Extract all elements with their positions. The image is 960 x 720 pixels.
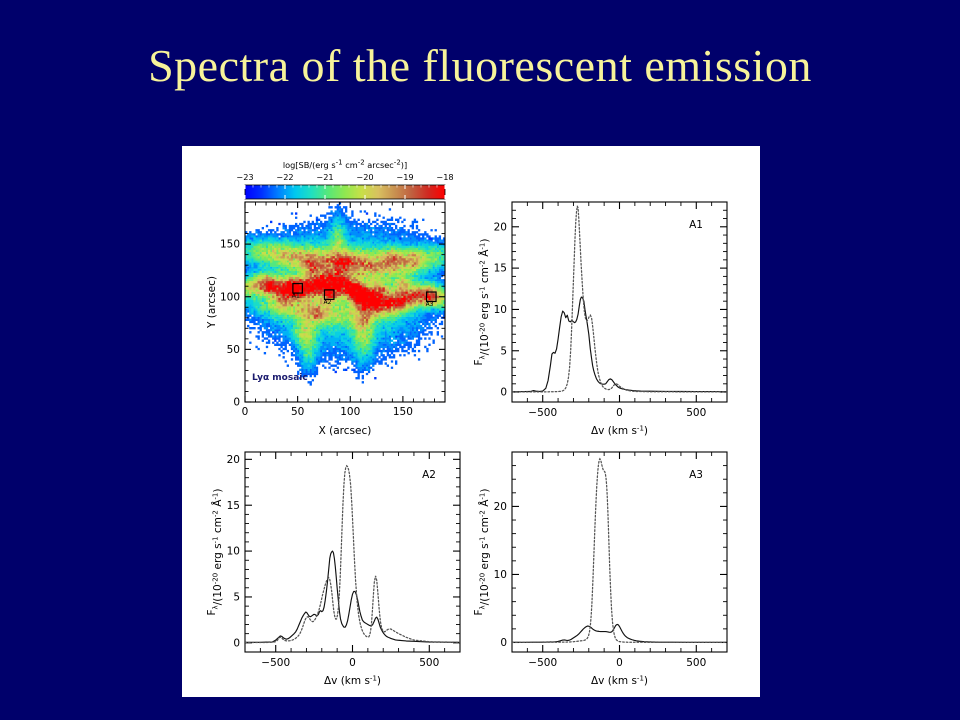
ytick-label: 20 [494,501,507,513]
colorbar-tick-label: −23 [236,172,253,182]
plot-frame [512,452,727,652]
ytick-label: 20 [494,221,507,233]
xaxis-label: Δv (km s-1) [591,674,648,687]
aperture-label-a3: A3 [426,301,434,308]
aperture-label-a2: A2 [323,299,331,306]
image-ytick-label: 150 [220,239,240,251]
image-xtick-label: 150 [393,406,413,418]
lyalpha-annotation: Lyα mosaic [252,373,308,383]
yaxis-label: Fλ/(10-20 erg s-1 cm-2 Å-1) [473,239,491,366]
panel-tag-a2: A2 [422,469,436,481]
xtick-label: 0 [349,657,356,669]
xaxis-label: Δv (km s-1) [591,424,648,437]
panel-tag-a1: A1 [689,219,703,231]
image-ytick-label: 50 [227,344,240,356]
colorbar-group: −23−22−21−20−19−18log[SB/(erg s-1 cm-2 a… [236,158,453,199]
colorbar-tick-label: −20 [356,172,373,182]
colorbar-gradient-bar [245,185,445,199]
colorbar-tick-label: −18 [436,172,453,182]
spectrum-panel-a2: −500050005101520A2Δv (km s-1)Fλ/(10-20 e… [206,452,460,687]
image-pixels [245,202,445,402]
plot-frame [512,202,727,402]
aperture-label-a1: A1 [292,293,300,300]
colorbar-tick-label: −21 [316,172,333,182]
xtick-label: 500 [419,657,439,669]
plot-frame [245,452,460,652]
xtick-label: −500 [528,407,557,419]
ytick-label: 20 [227,454,240,466]
ytick-label: 10 [494,569,507,581]
image-xtick-label: 50 [291,406,304,418]
ytick-label: 0 [500,387,507,399]
xtick-label: 0 [616,407,623,419]
lyalpha-image-panel: 050100150050100150X (arcsec)Y (arcsec)A1… [206,202,445,437]
ytick-label: 10 [227,546,240,558]
xtick-label: −500 [261,657,290,669]
ytick-label: 0 [233,637,240,649]
ytick-label: 15 [227,500,240,512]
colorbar-tick-label: −22 [276,172,293,182]
ytick-label: 15 [494,263,507,275]
spectrum-panel-a1: −500050005101520A1Δv (km s-1)Fλ/(10-20 e… [473,202,727,437]
colorbar-title: log[SB/(erg s-1 cm-2 arcsec-2)] [283,158,407,170]
image-xtick-label: 0 [242,406,249,418]
image-ytick-label: 100 [220,291,240,303]
xtick-label: 500 [686,407,706,419]
xtick-label: 500 [686,657,706,669]
colorbar-tick-label: −19 [396,172,413,182]
figure-panel: −23−22−21−20−19−18log[SB/(erg s-1 cm-2 a… [182,146,760,697]
image-xtick-label: 100 [340,406,360,418]
yaxis-label: Fλ/(10-20 erg s-1 cm-2 Å-1) [206,489,224,616]
figure-svg: −23−22−21−20−19−18log[SB/(erg s-1 cm-2 a… [182,146,760,697]
xtick-label: 0 [616,657,623,669]
page-title: Spectra of the fluorescent emission [0,42,960,90]
ytick-label: 5 [233,592,240,604]
ytick-label: 5 [500,345,507,357]
panel-tag-a3: A3 [689,469,703,481]
ytick-label: 0 [500,637,507,649]
xaxis-label: Δv (km s-1) [324,674,381,687]
image-ytick-label: 0 [233,397,240,409]
spectrum-panel-a3: −500050001020A3Δv (km s-1)Fλ/(10-20 erg … [473,452,727,687]
xtick-label: −500 [528,657,557,669]
yaxis-label: Fλ/(10-20 erg s-1 cm-2 Å-1) [473,489,491,616]
image-xaxis-label: X (arcsec) [319,425,372,437]
slide-root: Spectra of the fluorescent emission −23−… [0,0,960,720]
image-yaxis-label: Y (arcsec) [206,276,218,329]
ytick-label: 10 [494,304,507,316]
